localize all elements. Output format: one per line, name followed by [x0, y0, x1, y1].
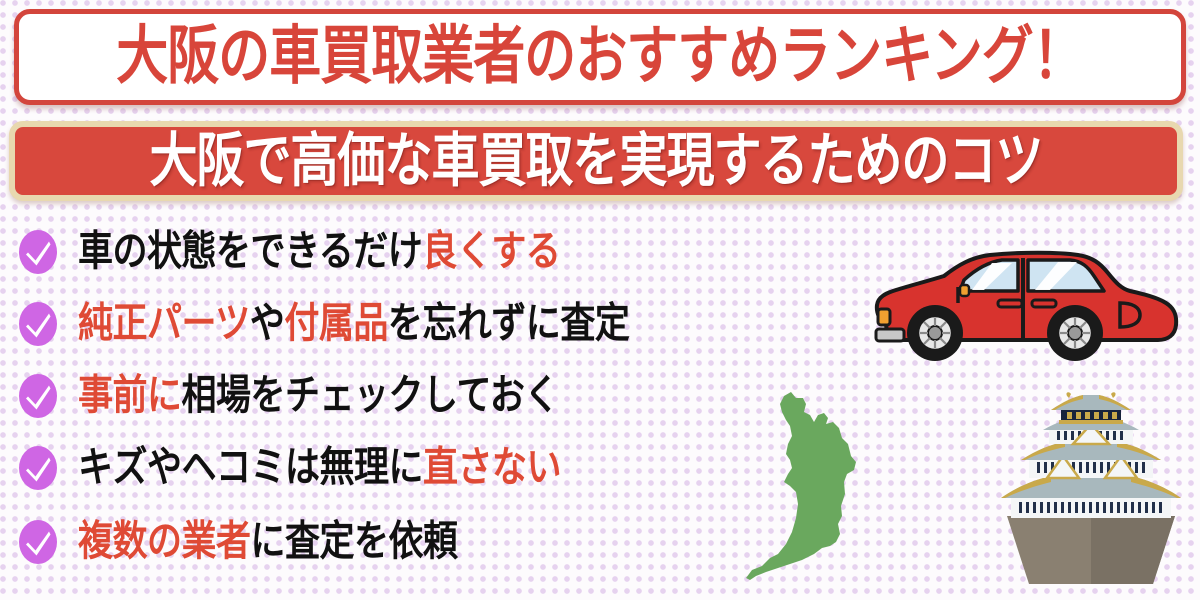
plain-phrase: を忘れずに査定: [388, 300, 630, 347]
car-body-group: [876, 253, 1176, 361]
osaka-prefecture-map-illustration: [744, 382, 912, 598]
highlighted-phrase: 純正パーツ: [78, 300, 250, 347]
plain-phrase: 相場をチェックしておく: [182, 372, 559, 419]
list-item-text: 複数の業者に査定を依頼: [78, 521, 458, 562]
list-item: 純正パーツや付属品を忘れずに査定: [18, 296, 629, 352]
main-title-text: 大阪の車買取業者のおすすめランキング！: [116, 25, 1083, 88]
highlighted-phrase: 良くする: [422, 228, 560, 275]
list-item: 複数の業者に査定を依頼: [18, 514, 458, 570]
infographic-canvas: 大阪の車買取業者のおすすめランキング！ 大阪で高価な車買取を実現するためのコツ …: [0, 0, 1200, 600]
red-car-illustration: [872, 243, 1188, 367]
list-item: 事前に相場をチェックしておく: [18, 368, 559, 424]
list-item-text: 事前に相場をチェックしておく: [78, 375, 559, 416]
check-circle-icon: [18, 445, 58, 491]
list-item-text: 純正パーツや付属品を忘れずに査定: [78, 303, 629, 344]
check-circle-icon: [18, 373, 58, 419]
highlighted-phrase: 事前に: [78, 372, 182, 419]
plain-phrase: 車の状態をできるだけ: [78, 228, 422, 275]
list-item-text: 車の状態をできるだけ良くする: [78, 231, 560, 272]
main-title-banner: 大阪の車買取業者のおすすめランキング！: [14, 9, 1186, 105]
plain-phrase: キズやヘコミは無理に: [78, 444, 423, 491]
check-circle-icon: [18, 301, 58, 347]
highlighted-phrase: 付属品: [284, 300, 388, 347]
subtitle-text: 大阪で高価な車買取を実現するためのコツ: [149, 132, 1042, 191]
highlighted-phrase: 複数の業者: [78, 518, 251, 565]
list-item: キズやヘコミは無理に直さない: [18, 440, 561, 496]
plain-phrase: や: [250, 300, 285, 347]
osaka-castle-illustration: [985, 392, 1197, 598]
plain-phrase: に査定を依頼: [251, 518, 458, 565]
list-item-text: キズやヘコミは無理に直さない: [78, 447, 561, 488]
check-circle-icon: [18, 519, 58, 565]
subtitle-banner: 大阪で高価な車買取を実現するためのコツ: [9, 121, 1183, 201]
highlighted-phrase: 直さない: [423, 444, 561, 491]
check-circle-icon: [18, 229, 58, 275]
list-item: 車の状態をできるだけ良くする: [18, 224, 560, 280]
